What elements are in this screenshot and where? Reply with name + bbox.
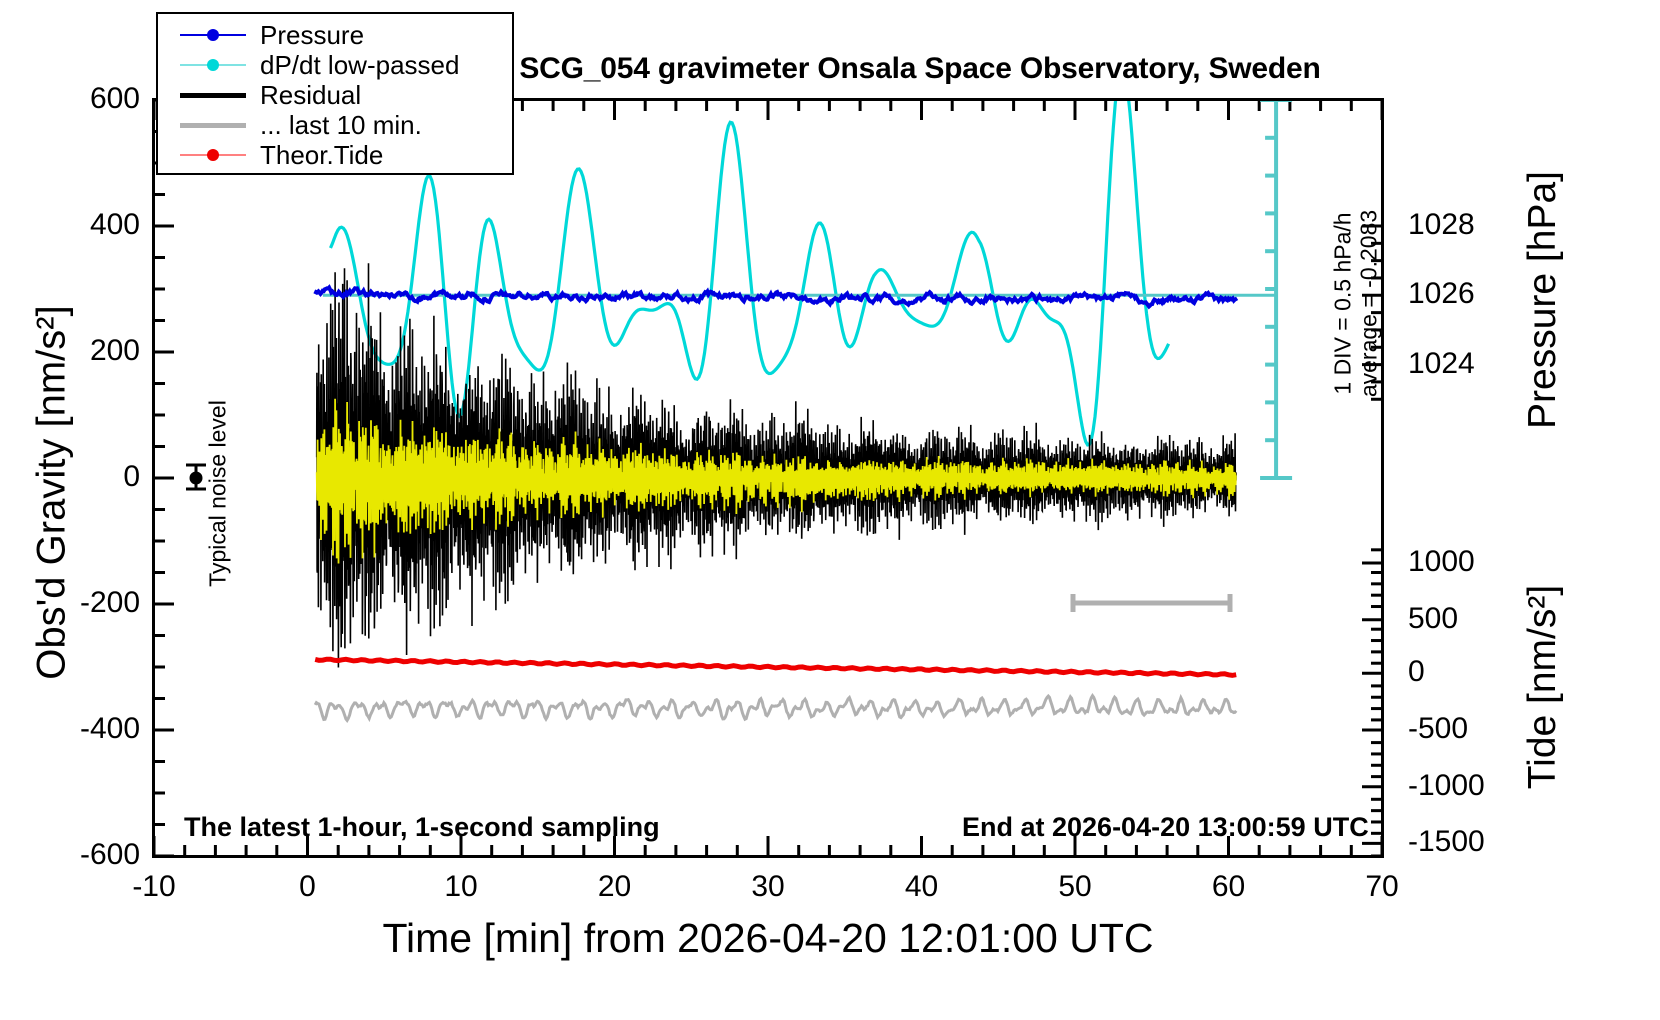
- legend-label-last10: ... last 10 min.: [260, 112, 422, 138]
- x-tick-label-50: 50: [1005, 872, 1145, 902]
- legend-item-dpdt[interactable]: dP/dt low-passed: [158, 50, 512, 80]
- legend-swatch-residual-icon: [180, 85, 246, 105]
- x-tick-label-40: 40: [852, 872, 992, 902]
- legend-item-theor-tide[interactable]: Theor.Tide: [158, 140, 512, 170]
- x-tick-label-0: 0: [238, 872, 378, 902]
- y-tick-label-400: 400: [0, 210, 140, 240]
- legend-label-pressure: Pressure: [260, 22, 364, 48]
- annotation-sampling-note: The latest 1-hour, 1-second sampling: [184, 812, 660, 843]
- x-tick-label-10: 10: [391, 872, 531, 902]
- annotation-typical-noise-level: Typical noise level: [205, 384, 232, 604]
- tide-tick-label--1500: -1500: [1408, 827, 1568, 857]
- plot-area: [152, 98, 1384, 858]
- legend-swatch-last10-icon: [180, 115, 246, 135]
- tide-tick-label-500: 500: [1408, 604, 1568, 634]
- annotation-dpdt-average: average = -0.2083: [1356, 179, 1383, 429]
- chart-title: SCG_054 gravimeter Onsala Space Observat…: [440, 52, 1400, 86]
- chart-page: SCG_054 gravimeter Onsala Space Observat…: [0, 0, 1660, 1020]
- chart-legend[interactable]: Pressure dP/dt low-passed Residual ... l…: [156, 12, 514, 175]
- y-axis-left-title: Obs'd Gravity [nm/s²]: [30, 213, 75, 773]
- legend-label-dpdt: dP/dt low-passed: [260, 52, 459, 78]
- tide-tick-label-1000: 1000: [1408, 547, 1568, 577]
- x-tick-label-60: 60: [1159, 872, 1299, 902]
- tide-tick-label-0: 0: [1408, 657, 1568, 687]
- legend-label-residual: Residual: [260, 82, 361, 108]
- legend-swatch-pressure-icon: [180, 25, 246, 45]
- legend-item-last10[interactable]: ... last 10 min.: [158, 110, 512, 140]
- legend-swatch-theor-tide-icon: [180, 145, 246, 165]
- y-tick-label--600: -600: [0, 840, 140, 870]
- annotation-end-time: End at 2026-04-20 13:00:59 UTC: [962, 812, 1369, 843]
- x-axis-title: Time [min] from 2026-04-20 12:01:00 UTC: [152, 915, 1384, 962]
- legend-item-pressure[interactable]: Pressure: [158, 20, 512, 50]
- x-tick-label--10: -10: [84, 872, 224, 902]
- annotation-dpdt-division: 1 DIV = 0.5 hPa/h: [1330, 179, 1357, 429]
- y-tick-label-600: 600: [0, 84, 140, 114]
- x-tick-label-20: 20: [545, 872, 685, 902]
- y-tick-label-0: 0: [0, 462, 140, 492]
- legend-item-residual[interactable]: Residual: [158, 80, 512, 110]
- y-tick-label--400: -400: [0, 714, 140, 744]
- pressure-tick-label-1028: 1028: [1408, 210, 1548, 240]
- pressure-tick-label-1024: 1024: [1408, 349, 1548, 379]
- legend-label-theor-tide: Theor.Tide: [260, 142, 383, 168]
- pressure-tick-label-1026: 1026: [1408, 279, 1548, 309]
- legend-swatch-dpdt-icon: [180, 55, 246, 75]
- tide-tick-label--500: -500: [1408, 714, 1568, 744]
- x-tick-label-30: 30: [698, 872, 838, 902]
- x-tick-label-70: 70: [1312, 872, 1452, 902]
- tide-tick-label--1000: -1000: [1408, 771, 1568, 801]
- y-tick-label--200: -200: [0, 588, 140, 618]
- y-tick-label-200: 200: [0, 336, 140, 366]
